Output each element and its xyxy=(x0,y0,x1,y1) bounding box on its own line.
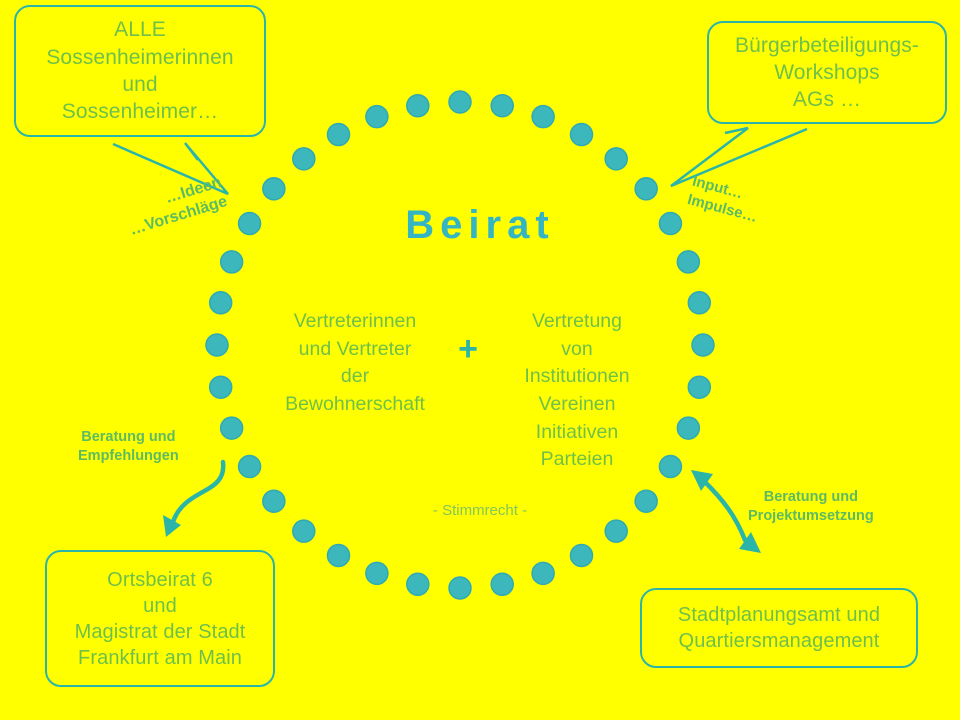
center-column-institutions: VertretungvonInstitutionenVereinenInitia… xyxy=(486,308,668,474)
circle-dot xyxy=(328,544,350,566)
circle-dot xyxy=(239,456,261,478)
circle-dot xyxy=(677,251,699,273)
circle-dot xyxy=(571,544,593,566)
annotation-beratung-empfehlungen: Beratung undEmpfehlungen xyxy=(78,428,179,466)
beratung-empfehlungen-arrow xyxy=(163,462,223,537)
circle-dot xyxy=(221,251,243,273)
circle-dot xyxy=(449,91,471,113)
speech-bubble-workshops[interactable]: Bürgerbeteiligungs-WorkshopsAGs … xyxy=(707,21,947,124)
circle-dot xyxy=(263,178,285,200)
circle-dot xyxy=(407,573,429,595)
speech-bubble-citizens-text: ALLESossenheimerinnenundSossenheimer… xyxy=(16,16,264,125)
circle-dot xyxy=(407,95,429,117)
speech-tail-right xyxy=(671,128,807,186)
circle-dot xyxy=(210,376,232,398)
circle-dot xyxy=(491,573,513,595)
diagram-canvas: ALLESossenheimerinnenundSossenheimer… Bü… xyxy=(0,0,960,720)
circle-dot xyxy=(293,148,315,170)
annotation-beratung-projektumsetzung: Beratung undProjektumsetzung xyxy=(748,488,874,526)
circle-dot xyxy=(221,417,243,439)
circle-dot xyxy=(366,562,388,584)
circle-dot xyxy=(491,95,513,117)
box-ortsbeirat[interactable]: Ortsbeirat 6undMagistrat der StadtFrankf… xyxy=(45,550,275,687)
speech-bubble-workshops-text: Bürgerbeteiligungs-WorkshopsAGs … xyxy=(709,32,945,114)
circle-dot xyxy=(328,124,350,146)
circle-dot xyxy=(688,292,710,314)
box-stadtplanungsamt-text: Stadtplanungsamt undQuartiersmanagement xyxy=(642,602,916,654)
circle-dot xyxy=(635,178,657,200)
circle-dot xyxy=(605,148,627,170)
circle-dot xyxy=(532,106,554,128)
circle-dot xyxy=(532,562,554,584)
speech-bubble-citizens[interactable]: ALLESossenheimerinnenundSossenheimer… xyxy=(14,5,266,137)
box-stadtplanungsamt[interactable]: Stadtplanungsamt undQuartiersmanagement xyxy=(640,588,918,668)
circle-dot xyxy=(449,577,471,599)
circle-dot xyxy=(366,106,388,128)
box-ortsbeirat-text: Ortsbeirat 6undMagistrat der StadtFrankf… xyxy=(47,567,273,671)
circle-dot xyxy=(605,520,627,542)
circle-dot xyxy=(571,124,593,146)
circle-dot xyxy=(206,334,228,356)
circle-dot xyxy=(692,334,714,356)
circle-dot xyxy=(210,292,232,314)
circle-dot xyxy=(293,520,315,542)
circle-dot xyxy=(677,417,699,439)
circle-dot xyxy=(688,376,710,398)
center-column-residents: Vertreterinnenund VertreterderBewohnersc… xyxy=(264,308,446,419)
plus-icon: + xyxy=(446,330,490,369)
